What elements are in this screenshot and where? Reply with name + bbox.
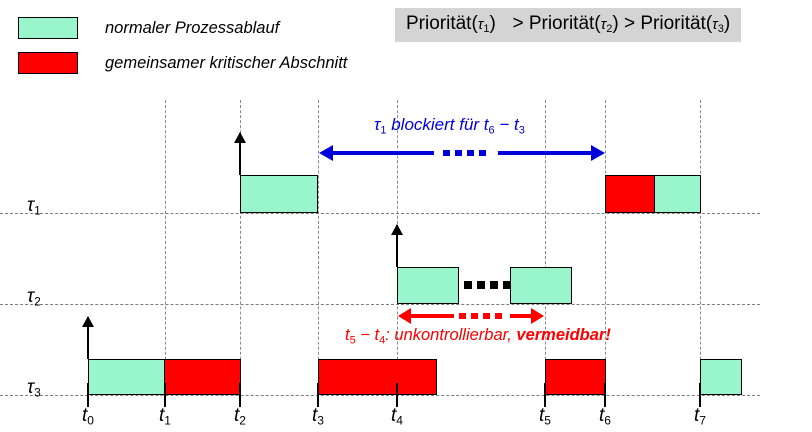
gridline-t5 [545,100,546,395]
annotation-uncontrollable-arrowhead-right [531,308,544,324]
timeline-chart: τ1 τ2 τ3 t0 t1 t2 t3 [0,95,812,432]
time-label-t7: t7 [694,405,706,428]
release-arrow-tau1 [239,133,241,175]
gantt-figure: normaler Prozessablauf gemeinsamer kriti… [0,0,812,432]
bar-tau3-normal-2 [700,359,742,395]
axis-label-tau2: τ2 [27,286,41,309]
annotation-uncontrollable-label: t5 − t4: unkontrollierbar, vermeidbar! [345,326,611,346]
annotation-blocked-dots [443,150,486,156]
time-label-t4: t4 [391,405,403,428]
baseline-tau1 [0,213,760,214]
tick-t1 [164,383,166,407]
tick-t6 [604,383,606,407]
axis-label-tau1: τ1 [27,195,41,218]
tick-t0 [87,383,89,407]
gridline-t1 [165,100,166,395]
tick-t2 [239,383,241,407]
baseline-tau3 [0,395,760,396]
legend-item-normal: normaler Prozessablauf [18,17,279,39]
annotation-uncontrollable-shaft-right [510,314,532,318]
bar-tau1-normal-1 [240,175,318,213]
priority-term-3: Priorität(τ3) [640,13,730,34]
release-arrow-tau2 [396,225,398,267]
bar-tau3-critical-2 [318,359,437,395]
annotation-blocked-arrowhead-right [591,145,605,161]
tick-t5 [544,383,546,407]
priority-term-2: Priorität(τ2) [529,13,619,34]
time-label-t2: t2 [234,405,246,428]
legend-label-critical: gemeinsamer kritischer Abschnitt [105,54,347,73]
gridline-t7 [700,100,701,395]
legend-swatch-normal [18,17,78,39]
bar-tau2-normal-2 [510,267,572,304]
annotation-blocked-shaft-left [332,151,434,155]
legend: normaler Prozessablauf gemeinsamer kriti… [0,0,420,95]
time-label-t0: t0 [82,405,94,428]
priority-formula-box: Priorität(τ1) > Priorität(τ2) > Prioritä… [395,8,741,42]
release-arrow-tau3 [87,317,89,359]
annotation-uncontrollable-shaft-left [410,314,454,318]
priority-operator-2: > [624,13,635,34]
bar-tau2-normal-1 [397,267,459,304]
bar-tau3-critical-1 [164,359,241,395]
legend-swatch-critical [18,52,78,74]
tick-t4 [396,383,398,407]
time-label-t6: t6 [599,405,611,428]
tick-t7 [699,383,701,407]
annotation-uncontrollable-dots [459,313,502,319]
annotation-blocked-arrowhead-left [319,145,333,161]
baseline-tau2 [0,304,760,305]
bar-tau3-normal-1 [88,359,165,395]
time-label-t1: t1 [159,405,171,428]
legend-item-critical: gemeinsamer kritischer Abschnitt [18,52,347,74]
gridline-t6 [605,100,606,395]
tau2-continuation-dots [464,281,511,289]
priority-term-1: Priorität(τ1) [406,13,496,34]
annotation-blocked-shaft-right [498,151,592,155]
legend-label-normal: normaler Prozessablauf [105,19,279,38]
time-label-t3: t3 [312,405,324,428]
axis-label-tau3: τ3 [27,377,41,400]
annotation-blocked-label: τ1 blockiert für t6 − t3 [374,115,525,136]
tick-t3 [317,383,319,407]
bar-tau3-critical-3 [545,359,606,395]
bar-tau1-normal-2 [654,175,701,213]
bar-tau1-critical-1 [605,175,655,213]
time-label-t5: t5 [539,405,551,428]
priority-operator-1: > [512,13,523,34]
